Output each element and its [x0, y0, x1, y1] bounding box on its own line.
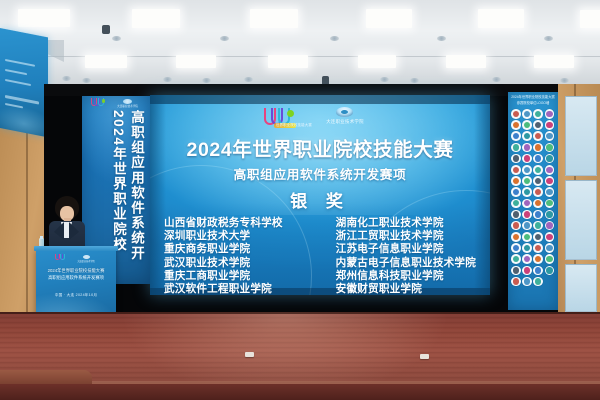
sponsor-logo-icon: [533, 232, 543, 242]
sponsor-logo-icon: [522, 109, 532, 119]
ceiling-light: [358, 55, 396, 68]
ceiling-light: [534, 55, 574, 68]
sponsor-logo-icon: [545, 199, 555, 209]
sponsor-logo-icon: [545, 266, 555, 276]
sponsor-logo-icon: [545, 232, 555, 242]
sponsor-logo-icon: [511, 277, 521, 287]
sponsor-logo-icon: [511, 109, 521, 119]
sponsor-logo-icon: [511, 254, 521, 264]
sponsor-logo-icon: [522, 243, 532, 253]
sponsor-logo-icon: [522, 154, 532, 164]
ceiling-light: [366, 9, 412, 28]
competition-u-logo-icon: [55, 254, 67, 262]
wall-acoustic-panel: [565, 96, 597, 176]
sponsor-logo-icon: [511, 143, 521, 153]
sponsor-logo-wall: 2024年世界职业院校技能大赛 参赛院校单位LOGO墙: [508, 92, 558, 310]
ceiling-speaker: [220, 36, 229, 41]
ceiling-speaker: [492, 77, 501, 82]
podium-logo-text: 大连职业技术学院: [75, 259, 97, 263]
sponsor-logo-icon: [533, 221, 543, 231]
sponsor-logo-icon: [522, 131, 532, 141]
floor-marker: [245, 352, 254, 357]
winner-name: 郑州信息科技职业学院: [336, 271, 476, 282]
sponsor-logo-icon: [545, 176, 555, 186]
podium-logo-row: 大连职业技术学院: [36, 254, 116, 262]
winner-name: 江苏电子信息职业学院: [336, 244, 476, 255]
ceiling-light: [176, 55, 216, 68]
logo-wall-grid: [511, 109, 557, 286]
screen-title: 2024年世界职业院校技能大赛: [187, 133, 454, 162]
ceiling-speaker: [560, 78, 569, 83]
stage-front-face: [0, 384, 600, 400]
winner-name: 山西省财政税务专科学校: [164, 218, 283, 229]
logo-wall-header-line1: 2024年世界职业院校技能大赛: [508, 95, 558, 100]
sponsor-logo-icon: [533, 254, 543, 264]
podium: 大连职业技术学院 2024年世界职业院校技能大赛 高职组应用软件系统开发赛项 中…: [36, 249, 116, 315]
sponsor-logo-icon: [545, 154, 555, 164]
sponsor-logo-icon: [533, 199, 543, 209]
floor-marker: [420, 354, 429, 359]
ceiling-speaker: [380, 77, 389, 82]
sponsor-logo-icon: [533, 131, 543, 141]
sponsor-logo-icon: [533, 243, 543, 253]
winner-name: 武汉职业技术学院: [164, 258, 283, 269]
sponsor-logo-icon: [545, 187, 555, 197]
winner-name: 武汉软件工程职业学院: [164, 284, 283, 295]
ceiling-light: [132, 9, 180, 28]
sponsor-logo-icon: [533, 165, 543, 175]
sponsor-logo-icon: [511, 221, 521, 231]
ceiling-speaker: [62, 76, 71, 81]
wall-acoustic-panel: [565, 180, 597, 260]
institution-logo-text: 大连职业技术学院: [314, 119, 376, 125]
winners-column-left: 山西省财政税务专科学校 深圳职业技术大学 重庆商务职业学院 武汉职业技术学院 重…: [164, 218, 283, 295]
award-label: 银 奖: [290, 187, 350, 212]
sponsor-logo-icon: [511, 243, 521, 253]
competition-logo-text: 世界职业院校技能大赛: [276, 122, 312, 127]
sponsor-logo-icon: [511, 232, 521, 242]
sponsor-logo-icon: [533, 143, 543, 153]
banner-institution-text: 大连职业技术学院: [114, 104, 142, 108]
sponsor-logo-icon: [545, 165, 555, 175]
sponsor-logo-icon: [545, 221, 555, 231]
institution-bird-logo-icon: 大连职业技术学院: [314, 107, 376, 130]
ceiling-speaker: [330, 36, 339, 41]
sponsor-logo-icon: [511, 176, 521, 186]
winner-name: 内蒙古电子信息职业技术学院: [336, 258, 476, 269]
sponsor-logo-icon: [522, 187, 532, 197]
sponsor-logo-icon: [511, 199, 521, 209]
ceiling-speaker: [410, 78, 419, 83]
winner-name: 湖南化工职业技术学院: [336, 218, 476, 229]
ceiling-speaker: [112, 36, 121, 41]
sponsor-logo-icon: [545, 243, 555, 253]
banner-line-back: 2024年世界职业院校: [108, 110, 128, 252]
ceiling-light: [478, 9, 524, 28]
ceiling: [0, 0, 600, 88]
sponsor-logo-icon: [533, 154, 543, 164]
ceiling-speaker: [544, 36, 553, 41]
winner-name: 重庆商务职业学院: [164, 244, 283, 255]
sponsor-logo-icon: [545, 210, 555, 220]
auditorium-scene: 世界职业院校技能大赛 大连职业技术学院 2024年世界职业院校技能大赛 高职组应…: [0, 0, 600, 400]
ceiling-light: [18, 9, 70, 27]
sponsor-logo-icon: [511, 165, 521, 175]
ceiling-speaker: [163, 77, 172, 82]
ceiling-speaker: [202, 78, 211, 83]
ceiling-light: [85, 55, 127, 68]
sponsor-logo-icon: [522, 199, 532, 209]
screen-subtitle: 高职组应用软件系统开发赛项: [234, 164, 407, 183]
winners-column-right: 湖南化工职业技术学院 浙江工贸职业技术学院 江苏电子信息职业学院 内蒙古电子信息…: [336, 218, 476, 295]
sponsor-logo-icon: [511, 154, 521, 164]
winners-list: 山西省财政税务专科学校 深圳职业技术大学 重庆商务职业学院 武汉职业技术学院 重…: [157, 218, 483, 295]
podium-line1: 2024年世界职业院校技能大赛: [36, 268, 116, 274]
sponsor-logo-icon: [522, 254, 532, 264]
ceiling-speaker: [244, 77, 253, 82]
winner-name: 安徽财贸职业学院: [336, 284, 476, 295]
sponsor-logo-icon: [522, 165, 532, 175]
sponsor-logo-icon: [511, 131, 521, 141]
ceiling-speaker: [82, 78, 91, 83]
ceiling-light: [580, 10, 600, 28]
winner-name: 深圳职业技术大学: [164, 231, 283, 242]
sponsor-logo-icon: [533, 120, 543, 130]
sponsor-logo-icon: [545, 254, 555, 264]
sponsor-logo-icon: [522, 143, 532, 153]
security-camera-icon: [102, 25, 110, 34]
podium-line3: 中国 · 大连 2024年10月: [36, 293, 116, 298]
winner-name: 浙江工贸职业技术学院: [336, 231, 476, 242]
sponsor-logo-icon: [545, 109, 555, 119]
podium-line2: 高职组应用软件系统开发赛项: [36, 275, 116, 281]
sponsor-logo-icon: [511, 210, 521, 220]
ceiling-speaker: [437, 36, 446, 41]
ceiling-light: [268, 55, 308, 68]
institution-bird-logo-icon: 大连职业技术学院: [114, 99, 142, 108]
competition-u-logo-icon: [91, 98, 107, 109]
sponsor-logo-icon: [522, 221, 532, 231]
sponsor-logo-icon: [533, 109, 543, 119]
main-led-screen: 世界职业院校技能大赛 大连职业技术学院 2024年世界职业院校技能大赛 高职组应…: [150, 95, 490, 295]
sponsor-logo-icon: [522, 176, 532, 186]
ceiling-light: [446, 55, 486, 68]
sponsor-logo-icon: [522, 232, 532, 242]
sponsor-logo-icon: [511, 187, 521, 197]
sponsor-logo-icon: [545, 131, 555, 141]
sponsor-logo-icon: [533, 210, 543, 220]
sponsor-logo-icon: [545, 120, 555, 130]
winner-name: 重庆工商职业学院: [164, 271, 283, 282]
stage-step: [0, 370, 92, 384]
sponsor-logo-icon: [533, 277, 543, 287]
banner-logo-row: 大连职业技术学院: [82, 98, 150, 109]
sponsor-logo-icon: [522, 266, 532, 276]
sponsor-logo-icon: [511, 266, 521, 276]
sponsor-logo-icon: [533, 187, 543, 197]
ceiling-light: [250, 9, 298, 28]
left-side-display: [0, 28, 48, 137]
sponsor-logo-icon: [533, 266, 543, 276]
sponsor-logo-icon: [511, 120, 521, 130]
screen-logo-row: 世界职业院校技能大赛 大连职业技术学院: [264, 106, 376, 130]
competition-u-logo-icon: 世界职业院校技能大赛: [264, 107, 298, 129]
logo-wall-header-line2: 参赛院校单位LOGO墙: [508, 101, 558, 106]
banner-line-front: 高职组应用软件系统开: [126, 110, 146, 261]
wall-acoustic-panel: [565, 264, 597, 312]
sponsor-logo-icon: [545, 143, 555, 153]
sponsor-logo-icon: [522, 277, 532, 287]
sponsor-logo-icon: [522, 210, 532, 220]
sponsor-logo-icon: [533, 176, 543, 186]
sponsor-logo-icon: [522, 120, 532, 130]
institution-bird-logo-icon: 大连职业技术学院: [75, 255, 97, 262]
